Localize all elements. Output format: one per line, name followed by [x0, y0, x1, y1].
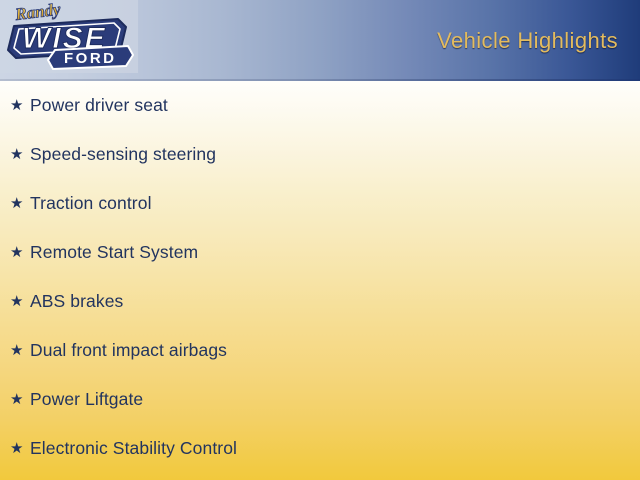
star-bullet-icon: ★ — [10, 245, 30, 260]
star-bullet-icon: ★ — [10, 343, 30, 358]
content-panel: ★ Power driver seat ★ Speed-sensing stee… — [0, 81, 640, 480]
vehicle-highlights-list: ★ Power driver seat ★ Speed-sensing stee… — [0, 81, 640, 473]
list-item: ★ Dual front impact airbags — [0, 326, 640, 375]
list-item: ★ Remote Start System — [0, 228, 640, 277]
star-bullet-icon: ★ — [10, 392, 30, 407]
randy-wise-ford-logo-icon: WISE Randy FORD — [0, 0, 138, 73]
ford-wordmark: FORD — [64, 50, 117, 67]
star-bullet-icon: ★ — [10, 441, 30, 456]
dealer-logo[interactable]: WISE Randy FORD — [0, 0, 138, 73]
star-bullet-icon: ★ — [10, 147, 30, 162]
list-item: ★ Power driver seat — [0, 81, 640, 130]
vehicle-highlights-slide: WISE Randy FORD Vehicle Highlights ★ Pow… — [0, 0, 640, 480]
randy-script-wordmark: Randy — [13, 0, 62, 24]
star-bullet-icon: ★ — [10, 98, 30, 113]
list-item-label: Speed-sensing steering — [30, 144, 216, 165]
list-item-label: Remote Start System — [30, 242, 198, 263]
list-item-label: ABS brakes — [30, 291, 123, 312]
list-item: ★ ABS brakes — [0, 277, 640, 326]
list-item-label: Power Liftgate — [30, 389, 143, 410]
star-bullet-icon: ★ — [10, 294, 30, 309]
list-item: ★ Speed-sensing steering — [0, 130, 640, 179]
star-bullet-icon: ★ — [10, 196, 30, 211]
header-divider — [0, 79, 640, 81]
list-item-label: Dual front impact airbags — [30, 340, 227, 361]
list-item: ★ Power Liftgate — [0, 375, 640, 424]
list-item: ★ Traction control — [0, 179, 640, 228]
list-item-label: Power driver seat — [30, 95, 168, 116]
page-title: Vehicle Highlights — [437, 28, 618, 54]
list-item: ★ Electronic Stability Control — [0, 424, 640, 473]
list-item-label: Traction control — [30, 193, 152, 214]
list-item-label: Electronic Stability Control — [30, 438, 237, 459]
